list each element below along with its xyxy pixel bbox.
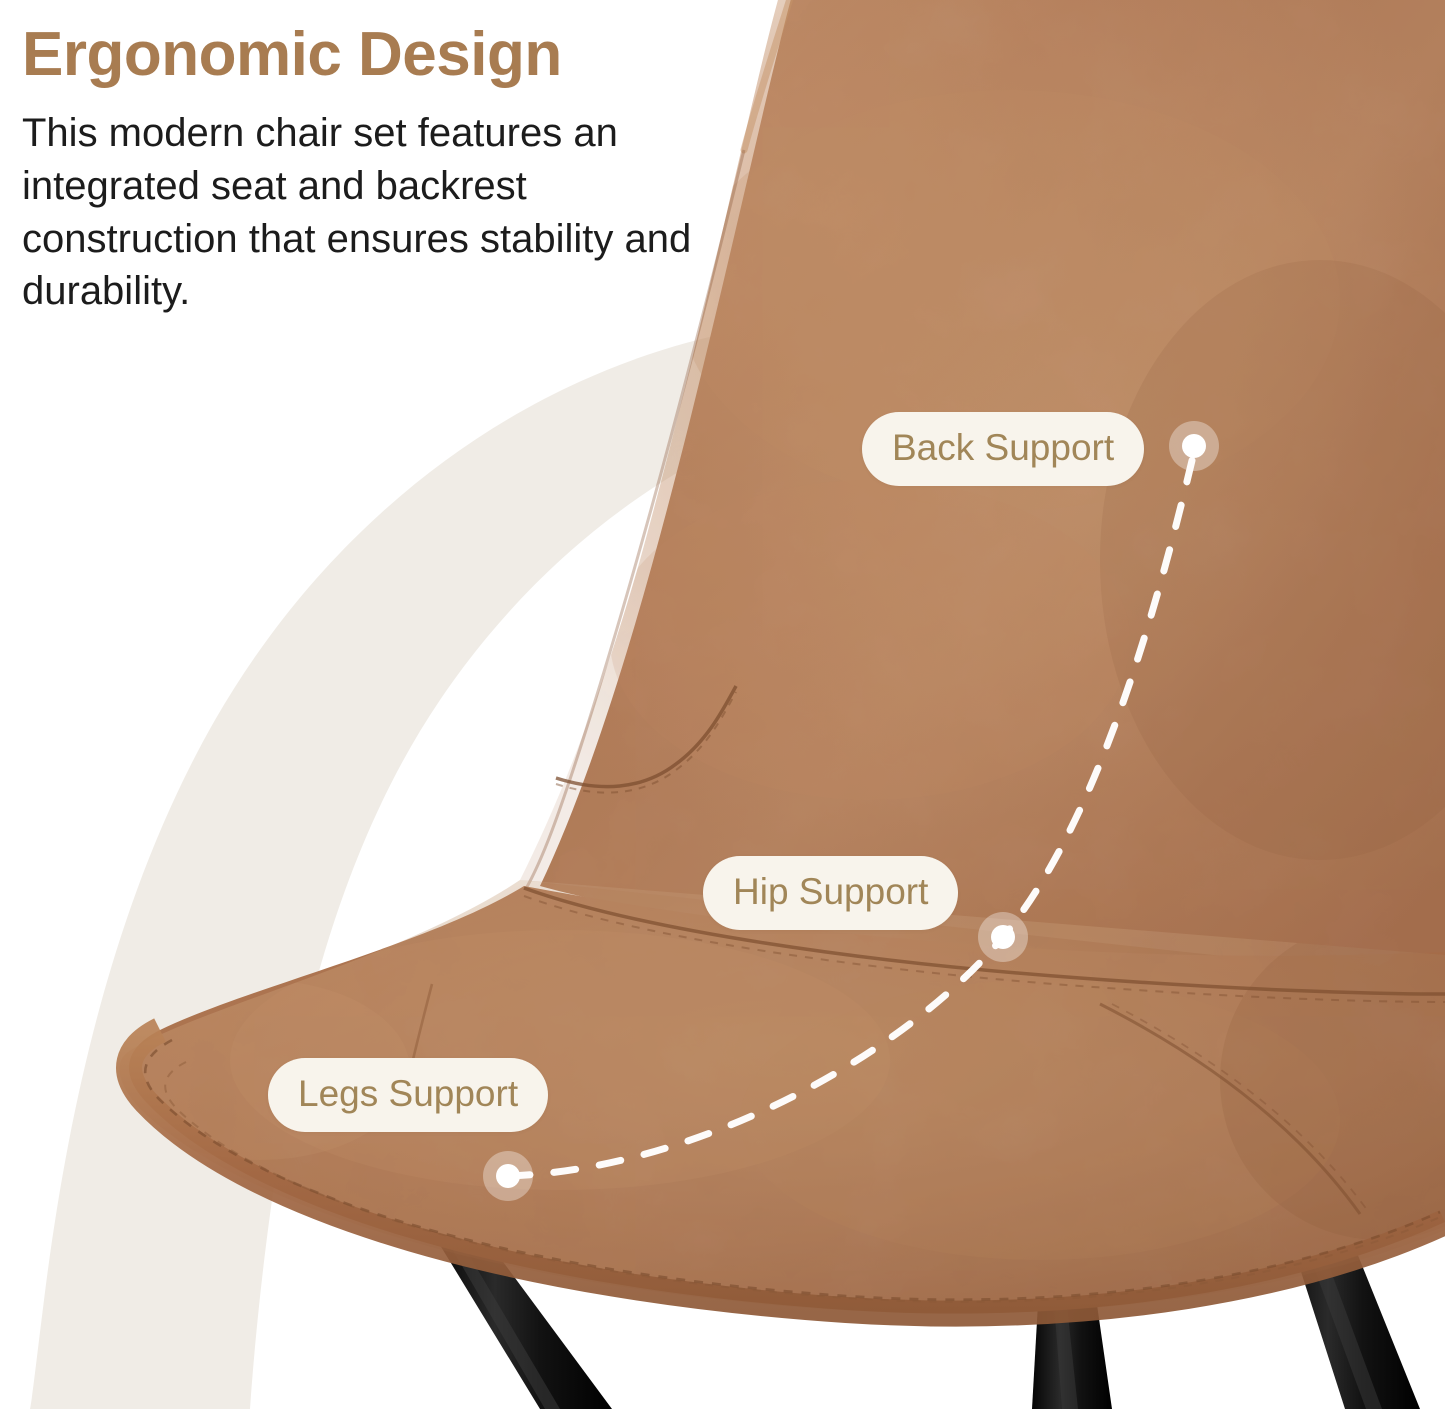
marker-dot-legs-support — [483, 1151, 533, 1201]
callout-label-legs-support: Legs Support — [268, 1058, 548, 1132]
page-title: Ergonomic Design — [22, 22, 742, 87]
description-text: This modern chair set features an integr… — [22, 107, 722, 318]
infographic-canvas: Ergonomic Design This modern chair set f… — [0, 0, 1445, 1409]
callout-label-hip-support: Hip Support — [703, 856, 958, 930]
marker-dot-back-support — [1169, 421, 1219, 471]
marker-dot-hip-support — [978, 912, 1028, 962]
copy-block: Ergonomic Design This modern chair set f… — [22, 22, 742, 318]
callout-label-back-support: Back Support — [862, 412, 1144, 486]
